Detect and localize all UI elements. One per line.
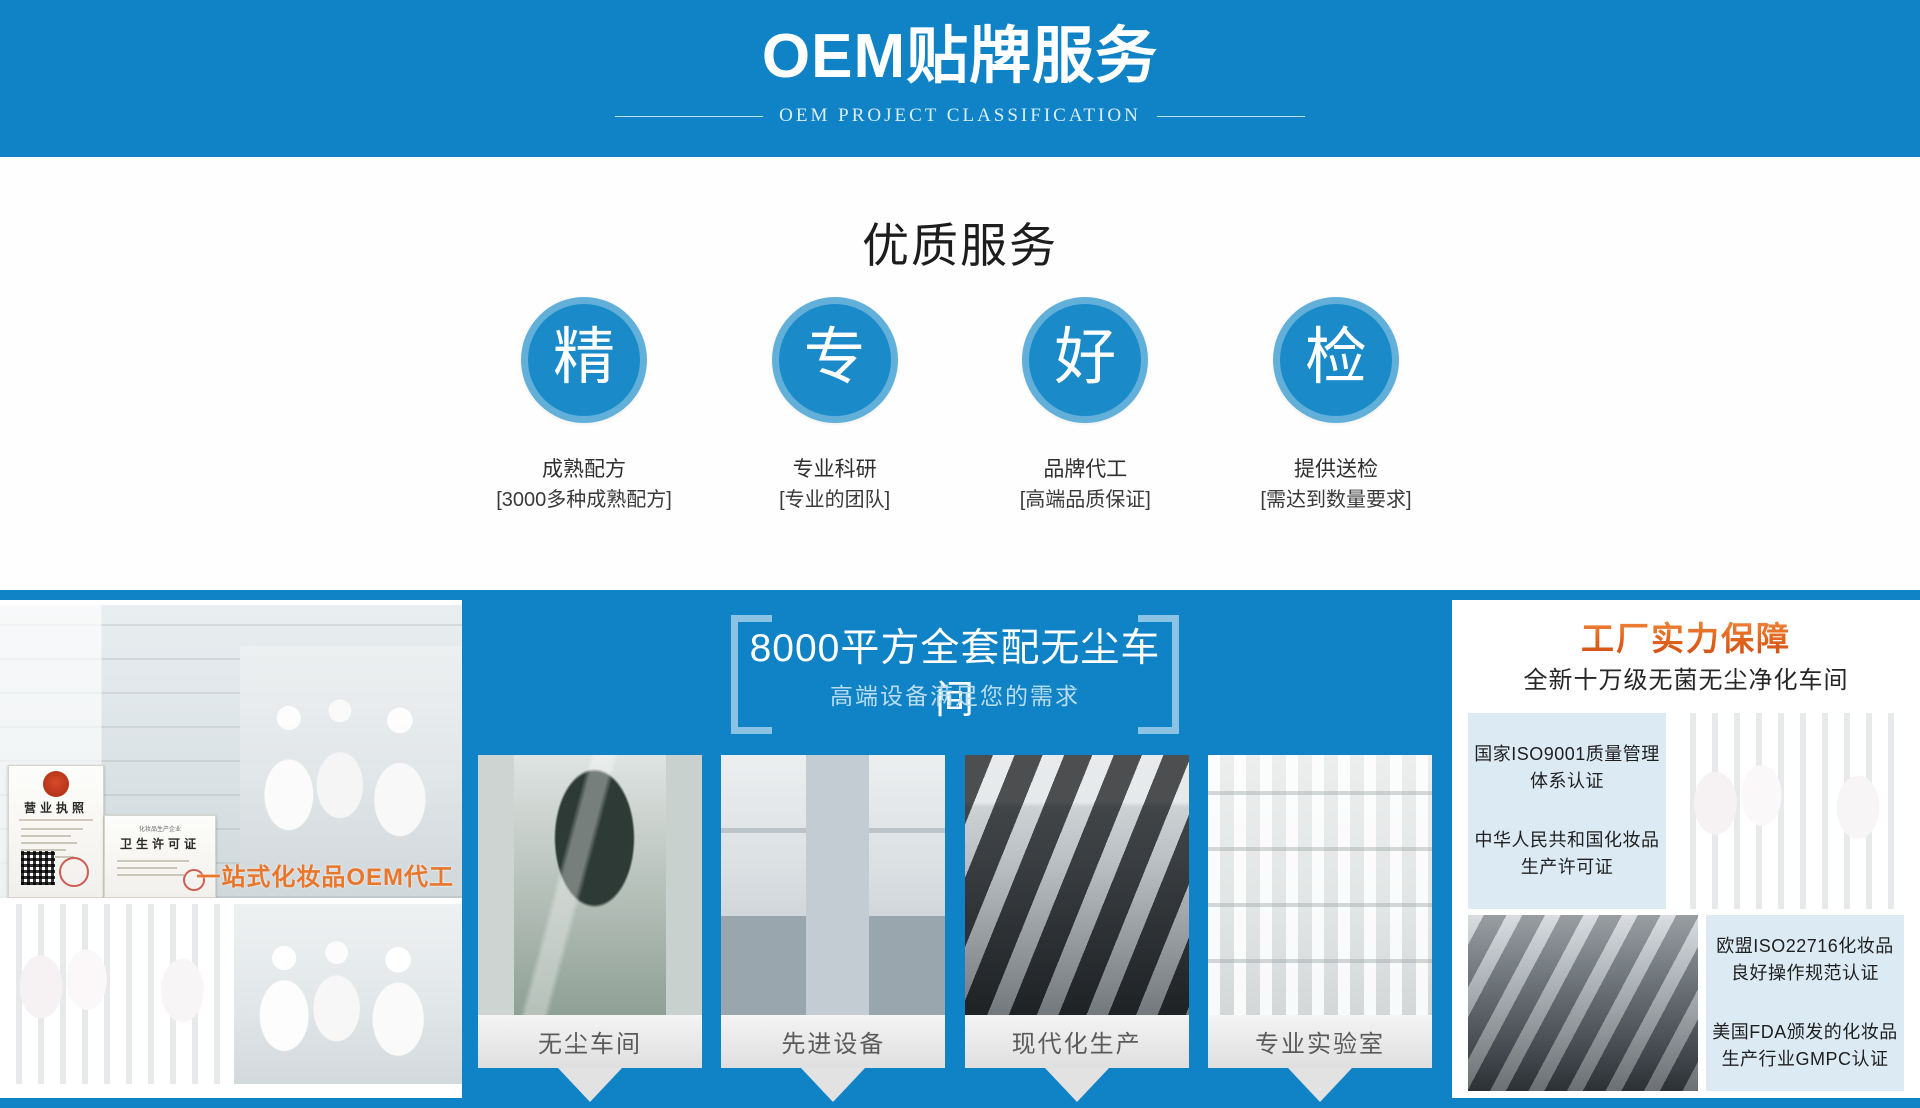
feature-badge-1: 精: [521, 297, 647, 423]
headline-bracket-frame: 8000平方全套配无尘车间 高端设备满足您的需求: [731, 615, 1179, 720]
feature-char-3: 好: [1054, 327, 1116, 393]
photo-cleanroom-corridor: [478, 755, 702, 1015]
facility-subheadline: 高端设备满足您的需求: [731, 677, 1179, 711]
middle-column: 8000平方全套配无尘车间 高端设备满足您的需求 无尘车间 先进设备 现代化生产: [470, 590, 1440, 1108]
feature-item-2[interactable]: 专 专业科研 [专业的团队]: [735, 297, 935, 515]
service-feature-list: 精 成熟配方 [3000多种成熟配方] 专 专业科研 [专业的团队] 好 品牌代…: [484, 297, 1436, 515]
feature-sub-3: [高端品质保证]: [985, 485, 1185, 515]
feature-badge-2: 专: [772, 297, 898, 423]
facility-tile-1[interactable]: 无尘车间: [478, 755, 702, 1102]
collage-panel: 营业执照 化妆品生产企业 卫生许可证 一: [0, 600, 462, 1098]
facility-tile-list: 无尘车间 先进设备 现代化生产 专业实验室: [470, 755, 1440, 1102]
feature-sub-4: [需达到数量要求]: [1236, 485, 1436, 515]
feature-char-1: 精: [553, 327, 615, 393]
qr-code-icon: [21, 851, 55, 885]
feature-badge-3: 好: [1022, 297, 1148, 423]
caption-arrow-icon-2: [801, 1068, 865, 1102]
caption-arrow-icon-3: [1045, 1068, 1109, 1102]
oem-banner-text: 一站式化妆品OEM代工: [196, 857, 454, 892]
service-section: 优质服务 精 成熟配方 [3000多种成熟配方] 专 专业科研 [专业的团队] …: [0, 157, 1920, 590]
rule-left-icon: [615, 116, 763, 117]
page-subtitle: OEM PROJECT CLASSIFICATION: [779, 105, 1141, 127]
feature-sub-1: [3000多种成熟配方]: [484, 485, 684, 515]
feature-char-2: 专: [804, 327, 866, 393]
certification-text-4: 美国FDA颁发的化妆品生产行业GMPC认证: [1712, 1019, 1898, 1073]
facility-caption-3: 现代化生产: [965, 1015, 1189, 1068]
facility-tile-3[interactable]: 现代化生产: [965, 755, 1189, 1102]
rule-right-icon: [1157, 116, 1305, 117]
certificate-title-2: 卫生许可证: [105, 835, 215, 852]
caption-arrow-icon-4: [1288, 1068, 1352, 1102]
facility-tile-4[interactable]: 专业实验室: [1208, 755, 1432, 1102]
certification-text-box-top: 国家ISO9001质量管理体系认证 中华人民共和国化妆品生产许可证: [1468, 713, 1666, 909]
feature-item-1[interactable]: 精 成熟配方 [3000多种成熟配方]: [484, 297, 684, 515]
factory-strength-subtitle: 全新十万级无菌无尘净化车间: [1468, 665, 1904, 697]
certification-grid: 国家ISO9001质量管理体系认证 中华人民共和国化妆品生产许可证 欧盟ISO2…: [1468, 713, 1904, 1091]
photo-steel-equipment: [1468, 915, 1698, 1091]
facility-section: 营业执照 化妆品生产企业 卫生许可证 一: [0, 590, 1920, 1108]
photo-packaging-workers: [1674, 713, 1904, 909]
oem-service-page: OEM贴牌服务 OEM PROJECT CLASSIFICATION 优质服务 …: [0, 0, 1920, 1108]
header-subtitle-row: OEM PROJECT CLASSIFICATION: [0, 105, 1920, 127]
photo-mixing-tanks: [721, 755, 945, 1015]
collage-top-photo: 营业执照 化妆品生产企业 卫生许可证 一: [0, 605, 462, 898]
certification-text-3: 欧盟ISO22716化妆品良好操作规范认证: [1716, 933, 1894, 987]
facility-tile-2[interactable]: 先进设备: [721, 755, 945, 1102]
feature-label-3: 品牌代工: [985, 455, 1185, 485]
feature-label-2: 专业科研: [735, 455, 935, 485]
factory-strength-panel: 工厂实力保障 全新十万级无菌无尘净化车间 国家ISO9001质量管理体系认证 中…: [1452, 600, 1920, 1098]
page-header: OEM贴牌服务 OEM PROJECT CLASSIFICATION: [0, 0, 1920, 157]
photo-packaging-line: [0, 904, 228, 1084]
photo-cleanroom-workers: [234, 904, 462, 1084]
photo-laboratory: [1208, 755, 1432, 1015]
facility-caption-4: 专业实验室: [1208, 1015, 1432, 1068]
service-title: 优质服务: [0, 207, 1920, 276]
caption-arrow-icon-1: [558, 1068, 622, 1102]
feature-item-3[interactable]: 好 品牌代工 [高端品质保证]: [985, 297, 1185, 515]
certificate-business-license: 营业执照: [8, 765, 104, 898]
certification-text-1: 国家ISO9001质量管理体系认证: [1474, 741, 1660, 795]
feature-item-4[interactable]: 检 提供送检 [需达到数量要求]: [1236, 297, 1436, 515]
collage-bottom-photos: [0, 904, 462, 1084]
factory-strength-title: 工厂实力保障: [1468, 618, 1904, 662]
feature-label-1: 成熟配方: [484, 455, 684, 485]
feature-label-4: 提供送检: [1236, 455, 1436, 485]
photo-filling-machine: [965, 755, 1189, 1015]
certificate-title-1: 营业执照: [9, 799, 103, 816]
national-emblem-icon: [43, 771, 69, 797]
facility-headline: 8000平方全套配无尘车间: [731, 623, 1179, 727]
facility-caption-1: 无尘车间: [478, 1015, 702, 1068]
feature-badge-4: 检: [1273, 297, 1399, 423]
facility-caption-2: 先进设备: [721, 1015, 945, 1068]
feature-sub-2: [专业的团队]: [735, 485, 935, 515]
feature-char-4: 检: [1305, 327, 1367, 393]
red-seal-icon: [59, 857, 89, 887]
certificate-header-2: 化妆品生产企业: [105, 824, 215, 833]
certification-text-box-bottom: 欧盟ISO22716化妆品良好操作规范认证 美国FDA颁发的化妆品生产行业GMP…: [1706, 915, 1904, 1091]
certification-text-2: 中华人民共和国化妆品生产许可证: [1475, 827, 1660, 881]
page-title: OEM贴牌服务: [0, 16, 1920, 98]
